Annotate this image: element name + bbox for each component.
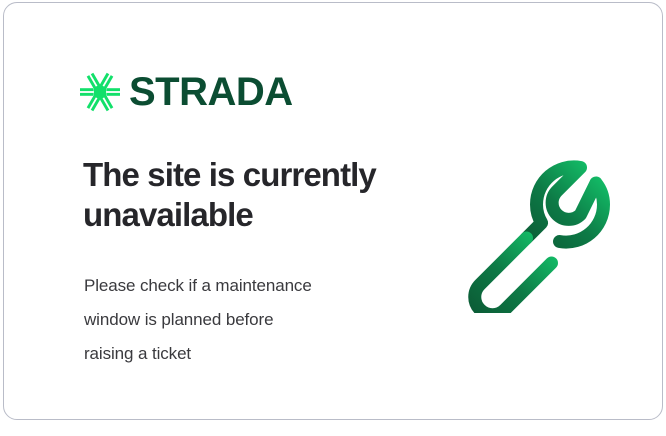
error-page: STRADA The site is currently unavailable… <box>0 0 666 436</box>
status-card: STRADA The site is currently unavailable… <box>3 2 663 420</box>
page-title: The site is currently unavailable <box>83 155 413 235</box>
wrench-icon <box>456 153 624 313</box>
strada-asterisk-icon <box>80 71 120 113</box>
description-line: window is planned before <box>84 303 394 337</box>
description-line: raising a ticket <box>84 337 394 371</box>
brand-logo: STRADA <box>80 71 293 113</box>
brand-wordmark: STRADA <box>129 72 293 112</box>
status-card-content: STRADA The site is currently unavailable… <box>4 3 662 419</box>
description-line: Please check if a maintenance <box>84 269 394 303</box>
page-description: Please check if a maintenance window is … <box>84 269 394 371</box>
